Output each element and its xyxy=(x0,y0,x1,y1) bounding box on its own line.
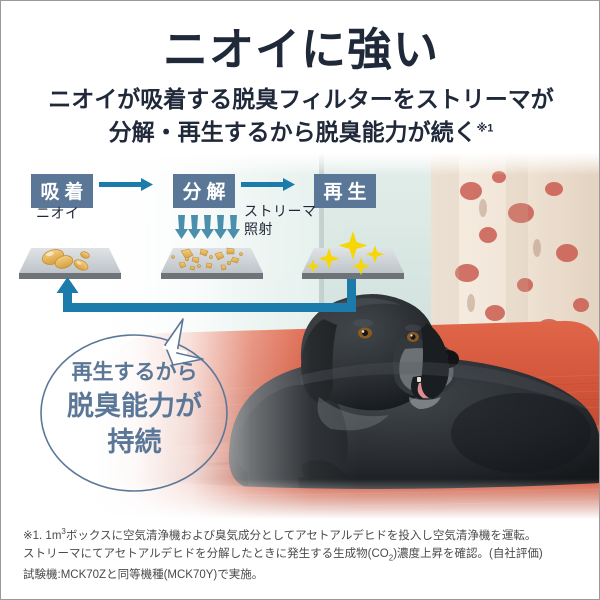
plate-regeneration xyxy=(302,231,404,279)
footnote-block: ※1. 1m3ボックスに空気清浄機および臭気成分としてアセトアルデヒドを投入し空… xyxy=(23,526,583,584)
page-subtitle: ニオイが吸着する脱臭フィルターをストリーマが 分解・再生するから脱臭能力が続く※… xyxy=(1,83,600,148)
stage-label-decomposition: 分解 xyxy=(173,174,235,208)
plate-adsorption xyxy=(19,247,121,279)
page-title: ニオイに強い xyxy=(1,23,600,76)
caption-streamer-irradiation: ストリーマ 照射 xyxy=(244,203,317,239)
footnote-line-1: ※1. 1m3ボックスに空気清浄機および臭気成分としてアセトアルデヒドを投入し空… xyxy=(23,526,583,545)
stage-label-adsorption: 吸着 xyxy=(31,174,93,208)
stage-label-regeneration: 再生 xyxy=(314,174,376,208)
callout-line-2: 脱臭能力が xyxy=(37,389,232,424)
footnote-line-2-a: ストリーマにてアセトアルデヒドを分解したときに発生する生成物(CO xyxy=(23,548,389,560)
subtitle-line-2: 分解・再生するから脱臭能力が続く※1 xyxy=(1,116,600,149)
footnote-line-3: 試験機:MCK70Zと同等機種(MCK70Y)で実施。 xyxy=(23,566,583,585)
subtitle-line-2-text: 分解・再生するから脱臭能力が続く xyxy=(109,119,477,145)
plate-decomposition xyxy=(161,248,263,279)
caption-streamer-line-2: 照射 xyxy=(244,221,317,239)
subtitle-line-1: ニオイが吸着する脱臭フィルターをストリーマが xyxy=(1,83,600,116)
header-block: ニオイに強い ニオイが吸着する脱臭フィルターをストリーマが 分解・再生するから脱… xyxy=(1,1,600,148)
callout-line-3: 持続 xyxy=(37,425,232,460)
footnote-line-1-a: ※1. 1m xyxy=(23,530,61,542)
footnote-line-2-b: )濃度上昇を確認。(自社評価) xyxy=(393,548,543,560)
subtitle-footnote-marker: ※1 xyxy=(477,122,494,134)
caption-streamer-line-1: ストリーマ xyxy=(244,203,317,221)
callout-text: 再生するから 脱臭能力が 持続 xyxy=(37,360,232,460)
callout-bubble: 再生するから 脱臭能力が 持続 xyxy=(37,313,252,498)
footnote-line-2: ストリーマにてアセトアルデヒドを分解したときに発生する生成物(CO2)濃度上昇を… xyxy=(23,545,583,565)
streamer-beam-arrows xyxy=(175,215,240,239)
footnote-line-1-b: ボックスに空気清浄機および臭気成分としてアセトアルデヒドを投入し空気清浄機を運転… xyxy=(66,530,536,542)
callout-line-1: 再生するから xyxy=(37,360,232,387)
recycle-loop-arrow xyxy=(57,277,357,312)
poster-root: ニオイに強い ニオイが吸着する脱臭フィルターをストリーマが 分解・再生するから脱… xyxy=(0,0,600,600)
caption-odor: ニオイ xyxy=(36,205,80,223)
